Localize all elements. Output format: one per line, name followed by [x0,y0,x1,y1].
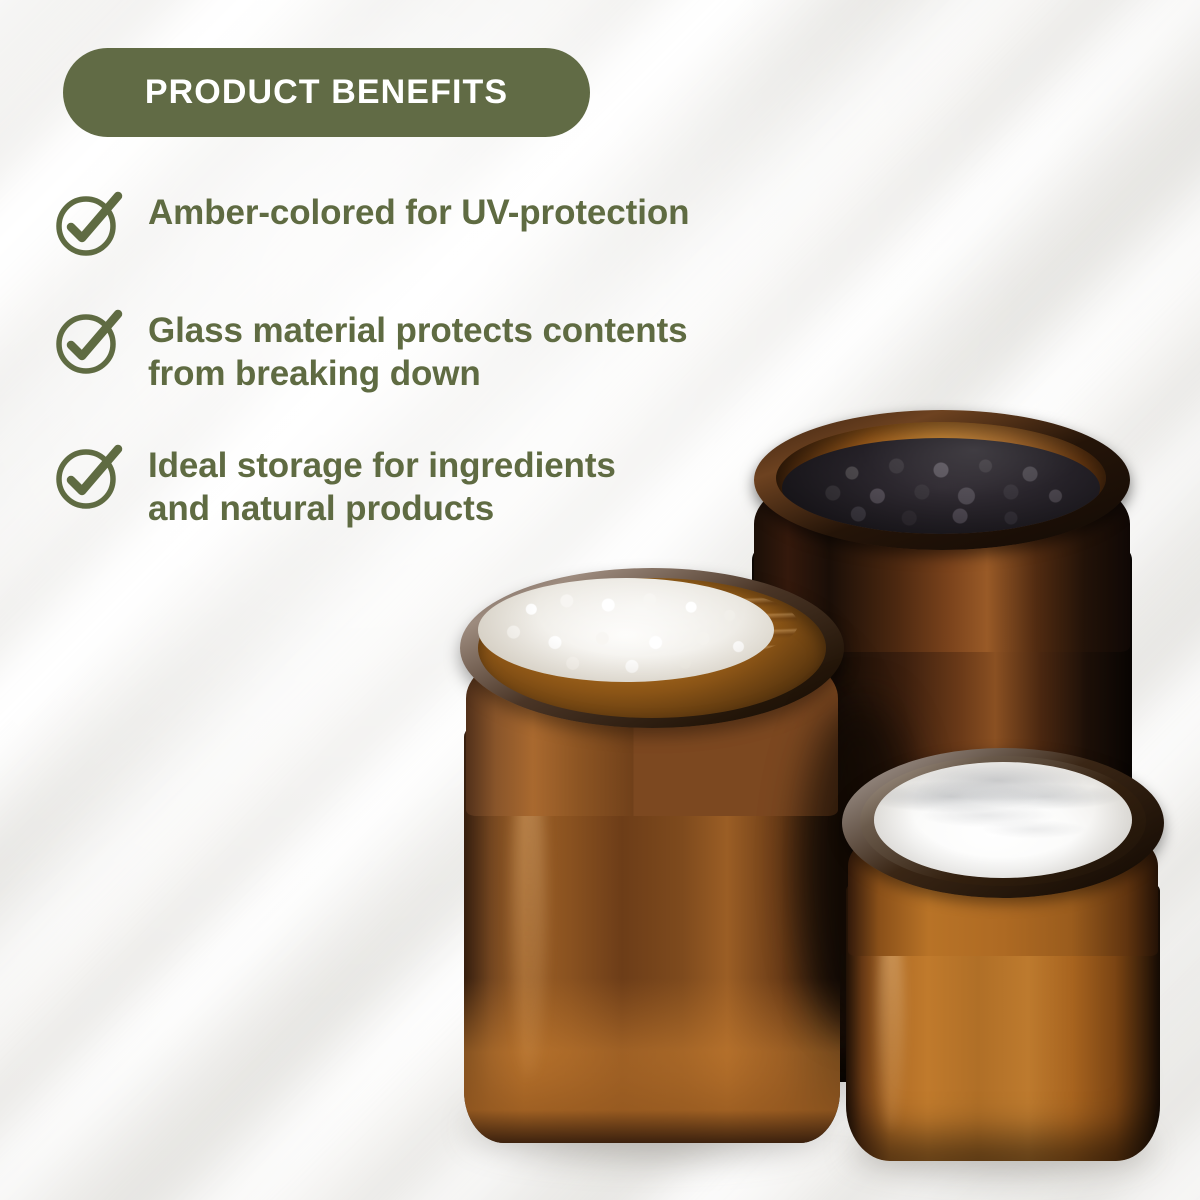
badge-label: PRODUCT BENEFITS [145,73,508,112]
check-circle-icon [52,306,124,378]
benefits-list: Amber-colored for UV-protection Glass ma… [52,186,842,575]
benefit-label: Glass material protects contents from br… [148,304,688,395]
benefit-item: Glass material protects contents from br… [52,304,842,395]
benefit-item: Ideal storage for ingredients and natura… [52,439,842,530]
background-vignette [0,0,1200,1200]
benefit-item: Amber-colored for UV-protection [52,186,842,260]
product-benefits-graphic: PRODUCT BENEFITS Amber-colored for UV-pr… [0,0,1200,1200]
benefit-label: Amber-colored for UV-protection [148,186,689,235]
product-benefits-badge: PRODUCT BENEFITS [63,48,590,137]
check-circle-icon [52,188,124,260]
benefit-label: Ideal storage for ingredients and natura… [148,439,616,530]
check-circle-icon [52,441,124,513]
